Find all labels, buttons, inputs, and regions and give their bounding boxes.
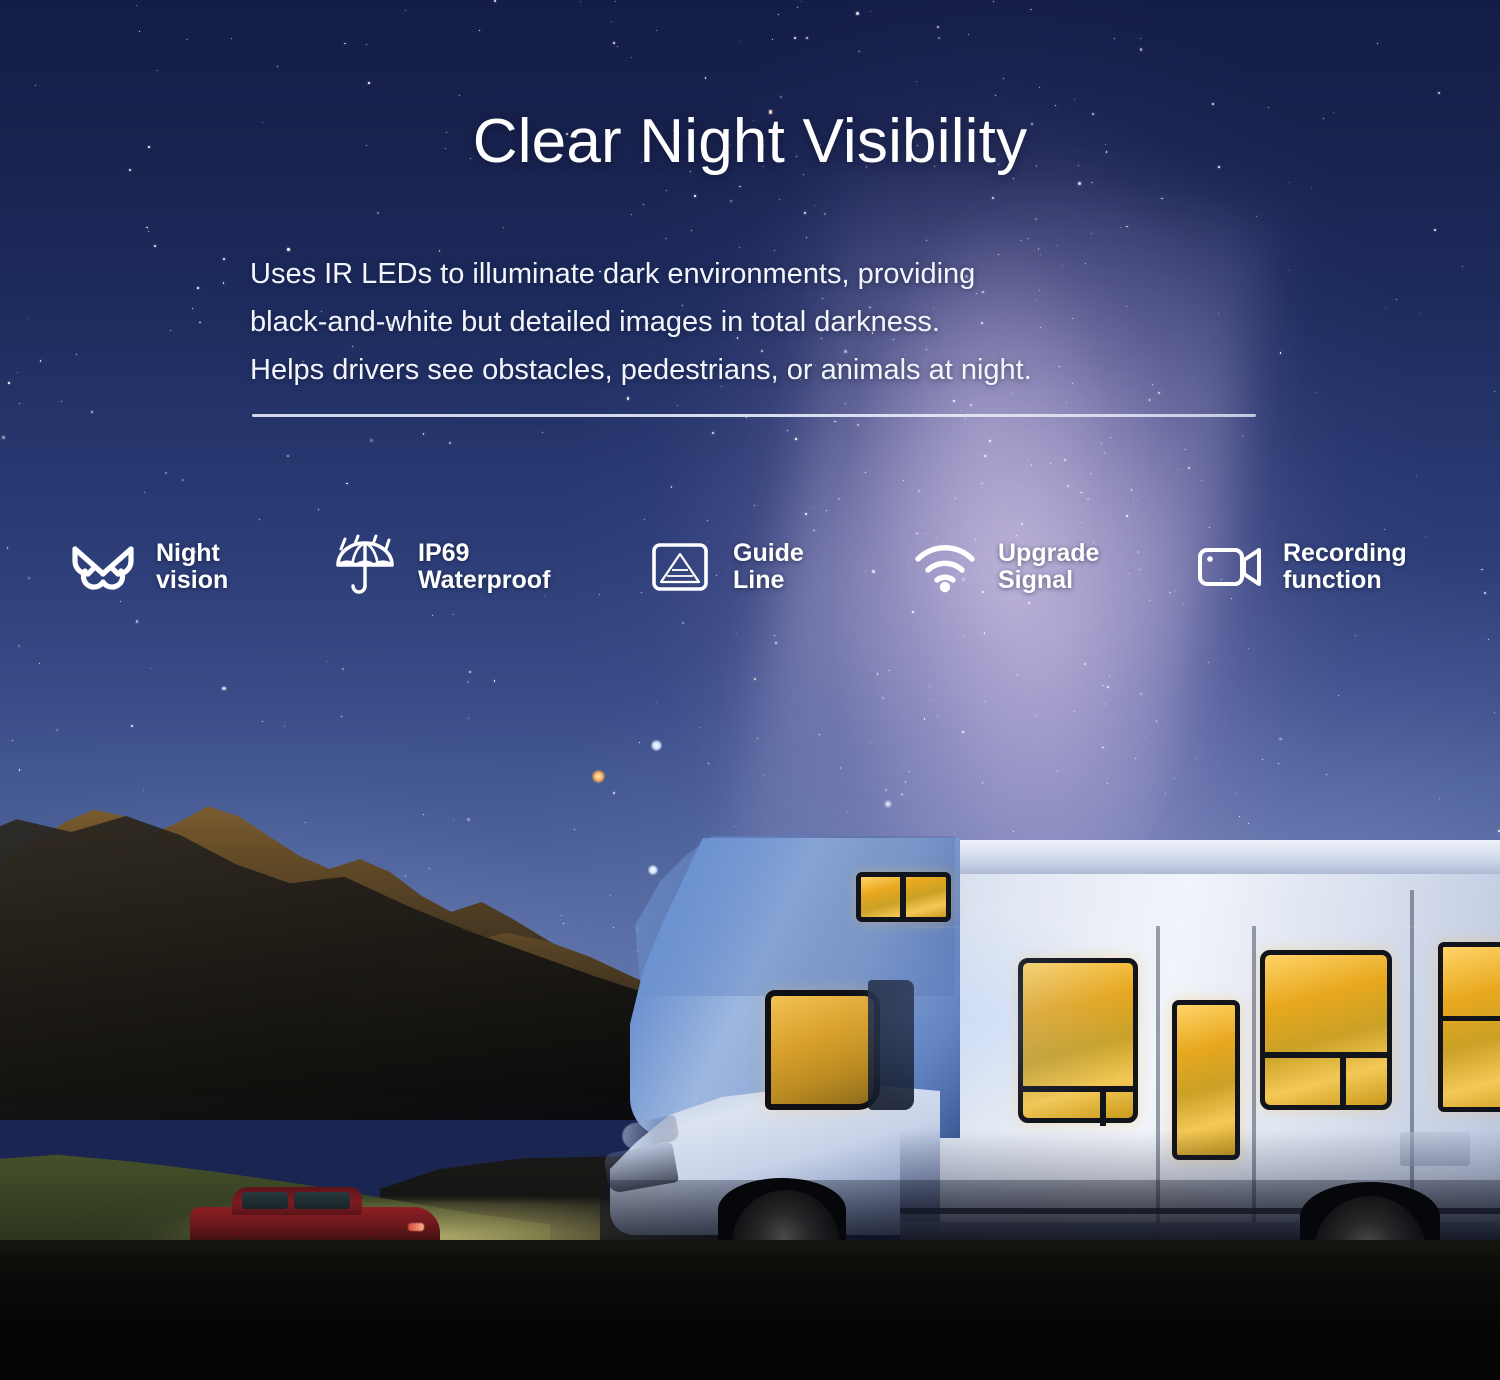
horizontal-divider (252, 414, 1256, 417)
overlay-content: Clear Night Visibility Uses IR LEDs to i… (0, 0, 1500, 1380)
feature-label: Night vision (156, 540, 228, 594)
description-block: Uses IR LEDs to illuminate dark environm… (250, 250, 1260, 394)
wifi-signal-icon (908, 536, 982, 598)
video-camera-icon (1193, 536, 1267, 598)
feature-night-vision: Night vision (66, 522, 228, 612)
feature-list: Night vision (0, 522, 1500, 612)
feature-upgrade-signal: Upgrade Signal (908, 522, 1099, 612)
feature-label: IP69 Waterproof (418, 540, 550, 594)
feature-recording: Recording function (1193, 522, 1407, 612)
feature-label: Guide Line (733, 540, 804, 594)
page-title: Clear Night Visibility (0, 106, 1500, 177)
description-line-2: black-and-white but detailed images in t… (250, 298, 1260, 346)
feature-label: Upgrade Signal (998, 540, 1099, 594)
feature-guide-line: Guide Line (643, 522, 804, 612)
umbrella-waterproof-icon (328, 536, 402, 598)
description-line-3: Helps drivers see obstacles, pedestrians… (250, 346, 1260, 394)
feature-waterproof: IP69 Waterproof (328, 522, 550, 612)
screen-guide-line-icon (643, 536, 717, 598)
description-line-1: Uses IR LEDs to illuminate dark environm… (250, 250, 1260, 298)
promo-banner: Clear Night Visibility Uses IR LEDs to i… (0, 0, 1500, 1380)
owl-night-vision-icon (66, 536, 140, 598)
feature-label: Recording function (1283, 540, 1407, 594)
